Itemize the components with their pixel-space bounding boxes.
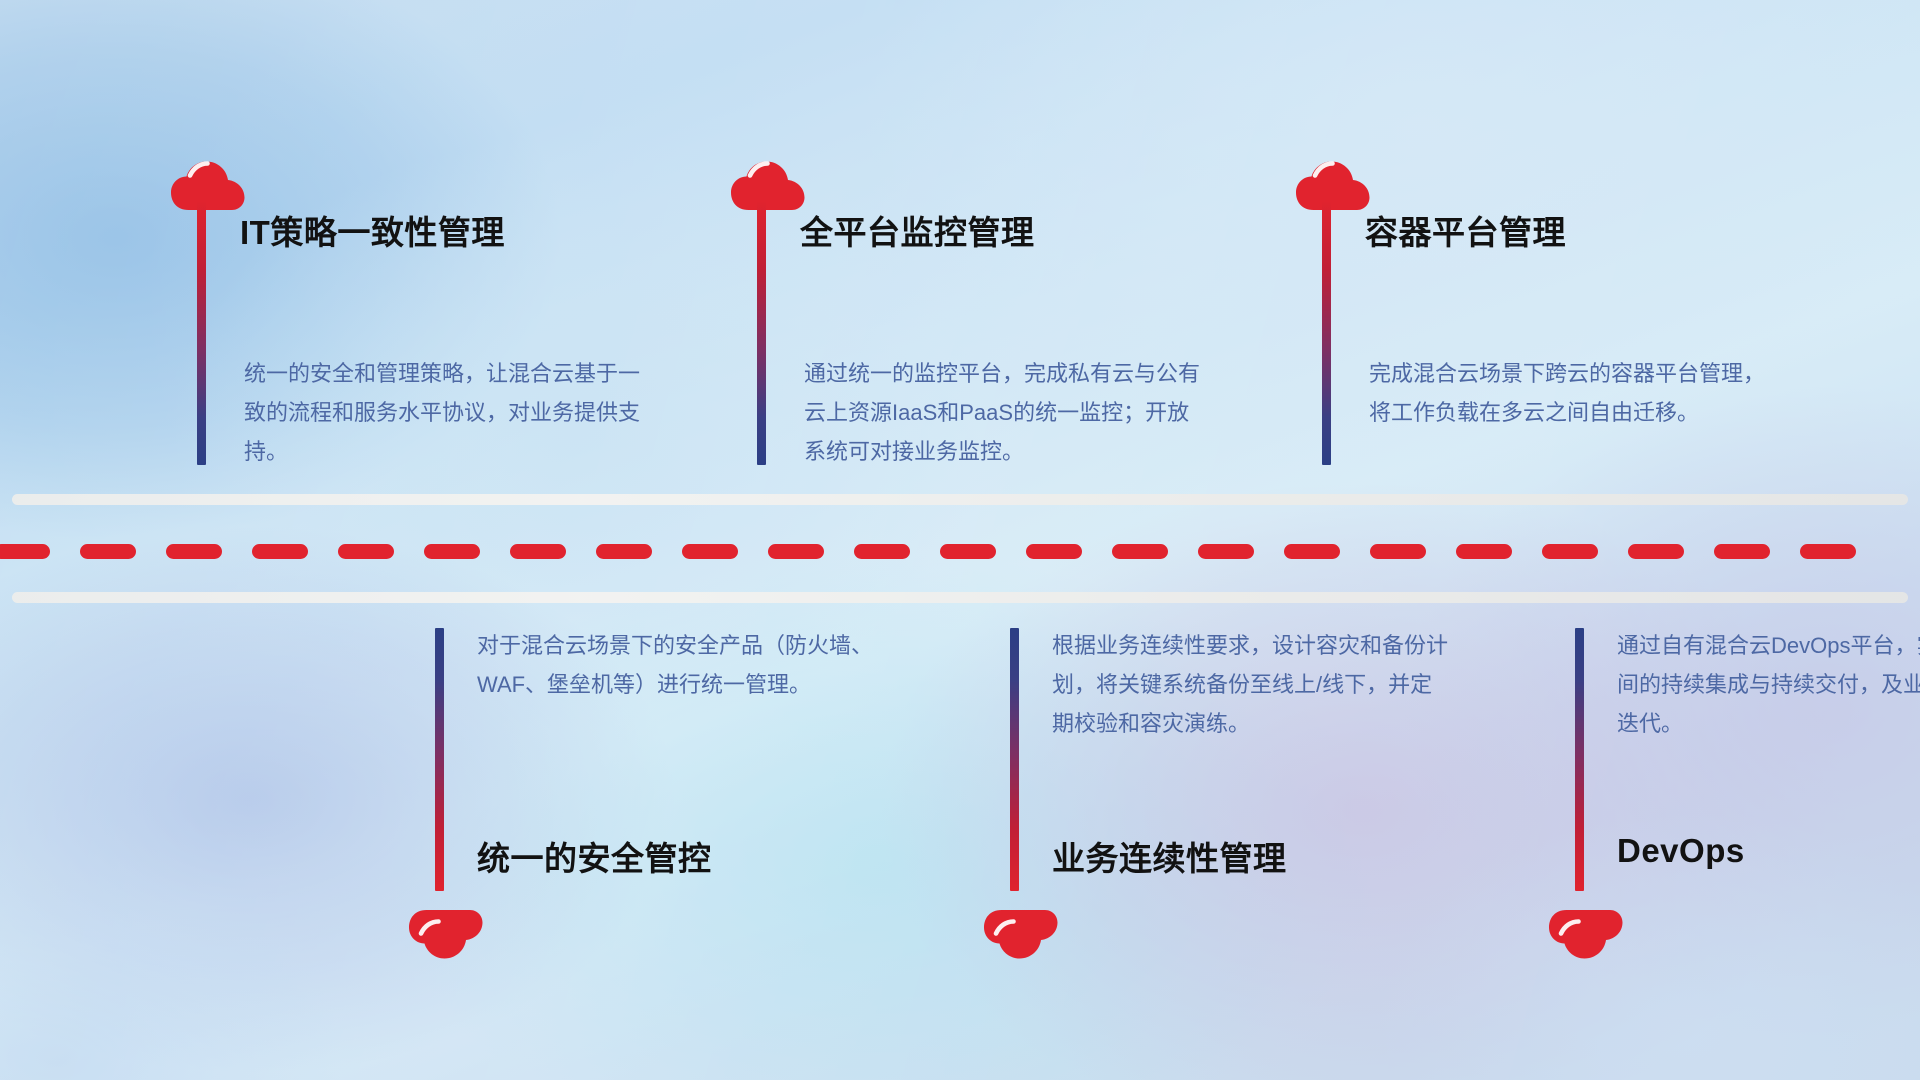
timeline-dash [1284,544,1340,559]
connector-stem [1010,628,1019,891]
feature-title: 统一的安全管控 [477,832,712,880]
feature-title: DevOps [1617,832,1745,870]
background-blob-lower-center [0,0,1920,1080]
timeline-dash [1112,544,1168,559]
timeline-rail-bottom [12,592,1908,603]
background-blob-mid-left [0,0,1920,1080]
timeline-dash [338,544,394,559]
timeline-rail-top [12,494,1908,505]
timeline-dash [768,544,824,559]
connector-stem [1575,628,1584,891]
timeline-dash [424,544,480,559]
background-sheen [0,0,1920,1080]
timeline-dash [252,544,308,559]
timeline-dash [0,544,50,559]
timeline-dash [1628,544,1684,559]
connector-stem [435,628,444,891]
feature-title: 容器平台管理 [1365,206,1566,254]
timeline-dash [1714,544,1770,559]
cloud-icon [730,158,806,212]
timeline-dash [1198,544,1254,559]
background-blob-lower-right [0,0,1920,1080]
timeline-dash [1456,544,1512,559]
timeline-dash [510,544,566,559]
timeline-dash [1800,544,1856,559]
feature-description: 通过统一的监控平台，完成私有云与公有云上资源IaaS和PaaS的统一监控；开放系… [804,354,1204,471]
timeline-dash [854,544,910,559]
timeline-dash [1370,544,1426,559]
feature-description: 完成混合云场景下跨云的容器平台管理，将工作负载在多云之间自由迁移。 [1369,354,1769,432]
background-blob-lower-left [0,0,1920,1080]
timeline-dash [166,544,222,559]
feature-title: IT策略一致性管理 [240,206,505,254]
background-blob-bottom-left [0,0,1920,1080]
timeline-dash [1542,544,1598,559]
cloud-icon [983,908,1059,962]
connector-stem [197,202,206,465]
feature-description: 对于混合云场景下的安全产品（防火墙、WAF、堡垒机等）进行统一管理。 [477,626,877,704]
feature-description: 通过自有混合云DevOps平台，实现多云间的持续集成与持续交付，及业务的快速迭代… [1617,626,1920,743]
cloud-icon [1295,158,1371,212]
cloud-icon [170,158,246,212]
timeline-dashed-road [0,543,1920,559]
background-blob-upper-left [0,0,1920,1080]
feature-title: 全平台监控管理 [800,206,1035,254]
timeline-dash [80,544,136,559]
feature-description: 统一的安全和管理策略，让混合云基于一致的流程和服务水平协议，对业务提供支持。 [244,354,644,471]
background-blob-bottom-right [0,0,1920,1080]
timeline-dash [596,544,652,559]
cloud-icon [1548,908,1624,962]
timeline-dash [682,544,738,559]
timeline-dash [1026,544,1082,559]
feature-description: 根据业务连续性要求，设计容灾和备份计划，将关键系统备份至线上/线下，并定期校验和… [1052,626,1452,743]
feature-title: 业务连续性管理 [1052,832,1287,880]
cloud-icon [408,908,484,962]
connector-stem [1322,202,1331,465]
background-blob-far-right [0,0,1920,1080]
connector-stem [757,202,766,465]
background-blob-upper-right [0,0,1920,1080]
background-base-gradient [0,0,1920,1080]
infographic-canvas: IT策略一致性管理 统一的安全和管理策略，让混合云基于一致的流程和服务水平协议，… [0,0,1920,1080]
timeline-dash [940,544,996,559]
